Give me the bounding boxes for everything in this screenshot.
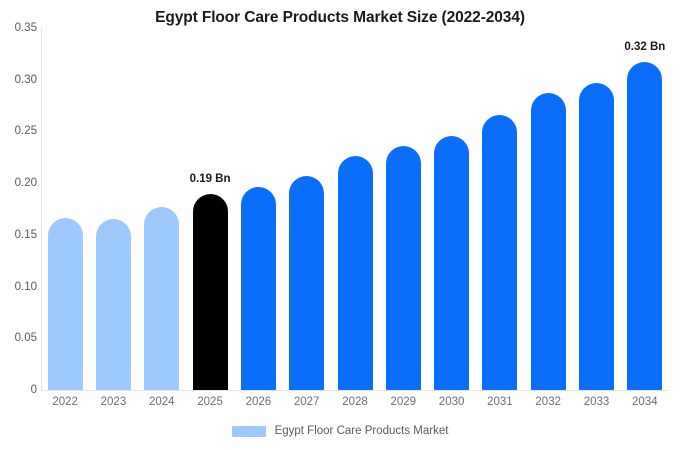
bar-group[interactable]: [386, 28, 421, 390]
y-axis-tick-label: 0.20: [1, 177, 37, 189]
x-axis-tick-label: 2026: [234, 396, 282, 408]
bar[interactable]: [482, 115, 517, 390]
bar[interactable]: [48, 218, 83, 390]
x-axis-tick-label: 2032: [524, 396, 572, 408]
plot-area: 0.19 Bn0.32 Bn: [41, 28, 669, 390]
bar[interactable]: [96, 219, 131, 390]
bar-group[interactable]: [241, 28, 276, 390]
bar-group[interactable]: [434, 28, 469, 390]
x-axis-tick-label: 2027: [283, 396, 331, 408]
y-axis-tick-label: 0.10: [1, 281, 37, 293]
chart-title: Egypt Floor Care Products Market Size (2…: [0, 9, 680, 27]
bar-group[interactable]: [482, 28, 517, 390]
y-axis-tick-label: 0.05: [1, 332, 37, 344]
bar-chart: Egypt Floor Care Products Market Size (2…: [0, 0, 680, 450]
bar-group[interactable]: [289, 28, 324, 390]
x-axis-tick-label: 2034: [621, 396, 669, 408]
bar-group[interactable]: [531, 28, 566, 390]
x-axis-tick-label: 2024: [138, 396, 186, 408]
bar[interactable]: [434, 136, 469, 390]
bar[interactable]: [531, 93, 566, 390]
bar[interactable]: [627, 62, 662, 390]
bar-group[interactable]: 0.32 Bn: [627, 28, 662, 390]
y-axis-tick-labels: 00.050.100.150.200.250.300.35: [0, 0, 37, 450]
bar-group[interactable]: [48, 28, 83, 390]
bar-group[interactable]: [144, 28, 179, 390]
bar[interactable]: [241, 187, 276, 390]
bar[interactable]: [386, 146, 421, 390]
x-axis-tick-label: 2025: [186, 396, 234, 408]
bar-group[interactable]: 0.19 Bn: [193, 28, 228, 390]
y-axis-tick-label: 0.35: [1, 22, 37, 34]
bar-group[interactable]: [579, 28, 614, 390]
x-axis-tick-label: 2033: [572, 396, 620, 408]
legend-item[interactable]: Egypt Floor Care Products Market: [232, 425, 449, 437]
bar[interactable]: [193, 194, 228, 391]
bar[interactable]: [579, 83, 614, 390]
y-axis-tick-label: 0.15: [1, 229, 37, 241]
y-axis-tick-label: 0.30: [1, 74, 37, 86]
x-axis-tick-label: 2028: [331, 396, 379, 408]
bar[interactable]: [144, 207, 179, 390]
y-axis-tick-label: 0.25: [1, 125, 37, 137]
bar[interactable]: [289, 176, 324, 390]
bar-value-label: 0.32 Bn: [624, 41, 665, 53]
x-axis-tick-label: 2029: [379, 396, 427, 408]
legend-item-label: Egypt Floor Care Products Market: [275, 425, 449, 437]
bar-value-label: 0.19 Bn: [190, 173, 231, 185]
x-axis-tick-label: 2023: [89, 396, 137, 408]
y-axis-tick-label: 0: [1, 384, 37, 396]
x-axis-tick-label: 2030: [427, 396, 475, 408]
legend-swatch-icon: [232, 426, 266, 437]
x-axis-tick-label: 2031: [476, 396, 524, 408]
bar[interactable]: [338, 156, 373, 390]
bar-group[interactable]: [338, 28, 373, 390]
chart-legend: Egypt Floor Care Products Market: [0, 425, 680, 437]
x-axis-line: [41, 390, 669, 391]
bar-group[interactable]: [96, 28, 131, 390]
x-axis-tick-label: 2022: [41, 396, 89, 408]
